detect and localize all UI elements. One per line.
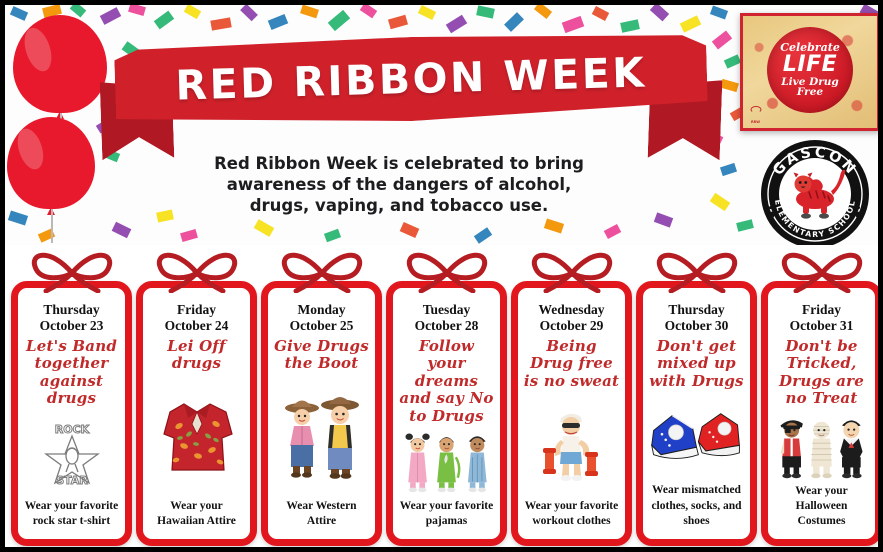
day-card[interactable]: Wednesday October 29 Being Drug free is … <box>511 245 632 552</box>
red-ribbon-week-mark-icon: RRW <box>748 108 763 124</box>
day-wear-instruction: Wear your Halloween Costumes <box>773 484 870 532</box>
red-balloon-icon <box>7 117 95 209</box>
day-weekday: Monday <box>297 302 345 317</box>
day-card[interactable]: Thursday October 30 Don't get mixed up w… <box>636 245 757 552</box>
day-card[interactable]: Thursday October 23 Let's Band together … <box>11 245 132 552</box>
day-date: October 31 <box>790 318 854 333</box>
ribbon-bow-icon <box>395 243 499 293</box>
day-art <box>523 390 620 499</box>
ribbon-bow-icon <box>770 243 874 293</box>
day-wear-instruction: Wear your Hawaiian Attire <box>148 499 245 531</box>
day-date: October 29 <box>540 318 604 333</box>
hawaiian-shirt-icon <box>154 394 240 478</box>
poster-header: RED RIBBON WEEK Red Ribbon Week is celeb… <box>5 5 883 245</box>
day-weekday: Friday <box>177 302 216 317</box>
day-slogan: Let's Band together against drugs <box>23 338 120 408</box>
day-slogan: Follow your dreams and say No to Drugs <box>398 338 495 425</box>
day-date: October 23 <box>40 318 104 333</box>
school-logo: GASCON ELEMENTARY SCHOOL <box>749 139 881 245</box>
svg-text:STAR: STAR <box>56 474 88 486</box>
gascon-seal-icon: GASCON ELEMENTARY SCHOOL <box>749 139 881 245</box>
day-card[interactable]: Friday October 24 Lei Off drugs <box>136 245 257 552</box>
day-card[interactable]: Friday October 31 Don't be Tricked, Drug… <box>761 245 882 552</box>
page-title: RED RIBBON WEEK <box>114 29 708 129</box>
day-date: October 24 <box>165 318 229 333</box>
day-art <box>148 373 245 499</box>
ribbon-bow-icon <box>20 243 124 293</box>
ribbon-bow-icon <box>145 243 249 293</box>
red-ribbon-week-poster: RED RIBBON WEEK Red Ribbon Week is celeb… <box>0 0 883 552</box>
day-date: October 25 <box>290 318 354 333</box>
day-art <box>398 425 495 499</box>
rock-star-outline-icon: ROCK STAR <box>36 420 108 486</box>
day-card[interactable]: Monday October 25 Give Drugs the Boot <box>261 245 382 552</box>
halloween-costume-kids-icon <box>773 410 870 482</box>
day-wear-instruction: Wear Western Attire <box>273 499 370 531</box>
svg-text:ROCK: ROCK <box>54 423 89 436</box>
pajama-kids-icon <box>398 427 495 497</box>
cowboy-kids-icon <box>274 390 370 482</box>
celebrate-line-2: LIFE <box>783 54 837 76</box>
workout-kid-icon <box>535 404 609 484</box>
day-slogan: Being Drug free is no sweat <box>523 338 620 390</box>
day-slogan: Don't get mixed up with Drugs <box>648 338 745 390</box>
day-weekday: Thursday <box>668 302 724 317</box>
day-art <box>273 373 370 499</box>
celebrate-life-poster: Celebrate LIFE Live Drug Free RRW <box>740 13 880 131</box>
day-slogan: Give Drugs the Boot <box>273 338 370 373</box>
mismatched-sneakers-icon <box>648 406 745 468</box>
day-date: October 30 <box>665 318 729 333</box>
ribbon-bow-icon <box>645 243 749 293</box>
celebrate-life-disc: Celebrate LIFE Live Drug Free <box>767 27 853 113</box>
day-weekday: Wednesday <box>538 302 604 317</box>
poster-tagline: Red Ribbon Week is celebrated to bring a… <box>197 153 601 216</box>
day-wear-instruction: Wear your favorite pajamas <box>398 499 495 531</box>
day-art <box>648 390 745 483</box>
day-slogan: Lei Off drugs <box>148 338 245 373</box>
celebrate-line-3: Live Drug <box>781 77 838 88</box>
day-wear-instruction: Wear your favorite rock star t-shirt <box>23 499 120 531</box>
day-cards-row: Thursday October 23 Let's Band together … <box>5 245 883 552</box>
day-wear-instruction: Wear mismatched clothes, socks, and shoe… <box>648 483 745 531</box>
day-art <box>773 408 870 484</box>
day-wear-instruction: Wear your favorite workout clothes <box>523 499 620 531</box>
day-slogan: Don't be Tricked, Drugs are no Treat <box>773 338 870 408</box>
red-balloon-icon <box>13 15 107 113</box>
day-card[interactable]: Tuesday October 28 Follow your dreams an… <box>386 245 507 552</box>
day-weekday: Thursday <box>43 302 99 317</box>
day-date: October 28 <box>415 318 479 333</box>
day-art: ROCK STAR <box>23 408 120 499</box>
ribbon-bow-icon <box>270 243 374 293</box>
celebrate-line-4: Free <box>797 87 823 98</box>
day-weekday: Tuesday <box>423 302 471 317</box>
day-weekday: Friday <box>802 302 841 317</box>
ribbon-bow-icon <box>520 243 624 293</box>
